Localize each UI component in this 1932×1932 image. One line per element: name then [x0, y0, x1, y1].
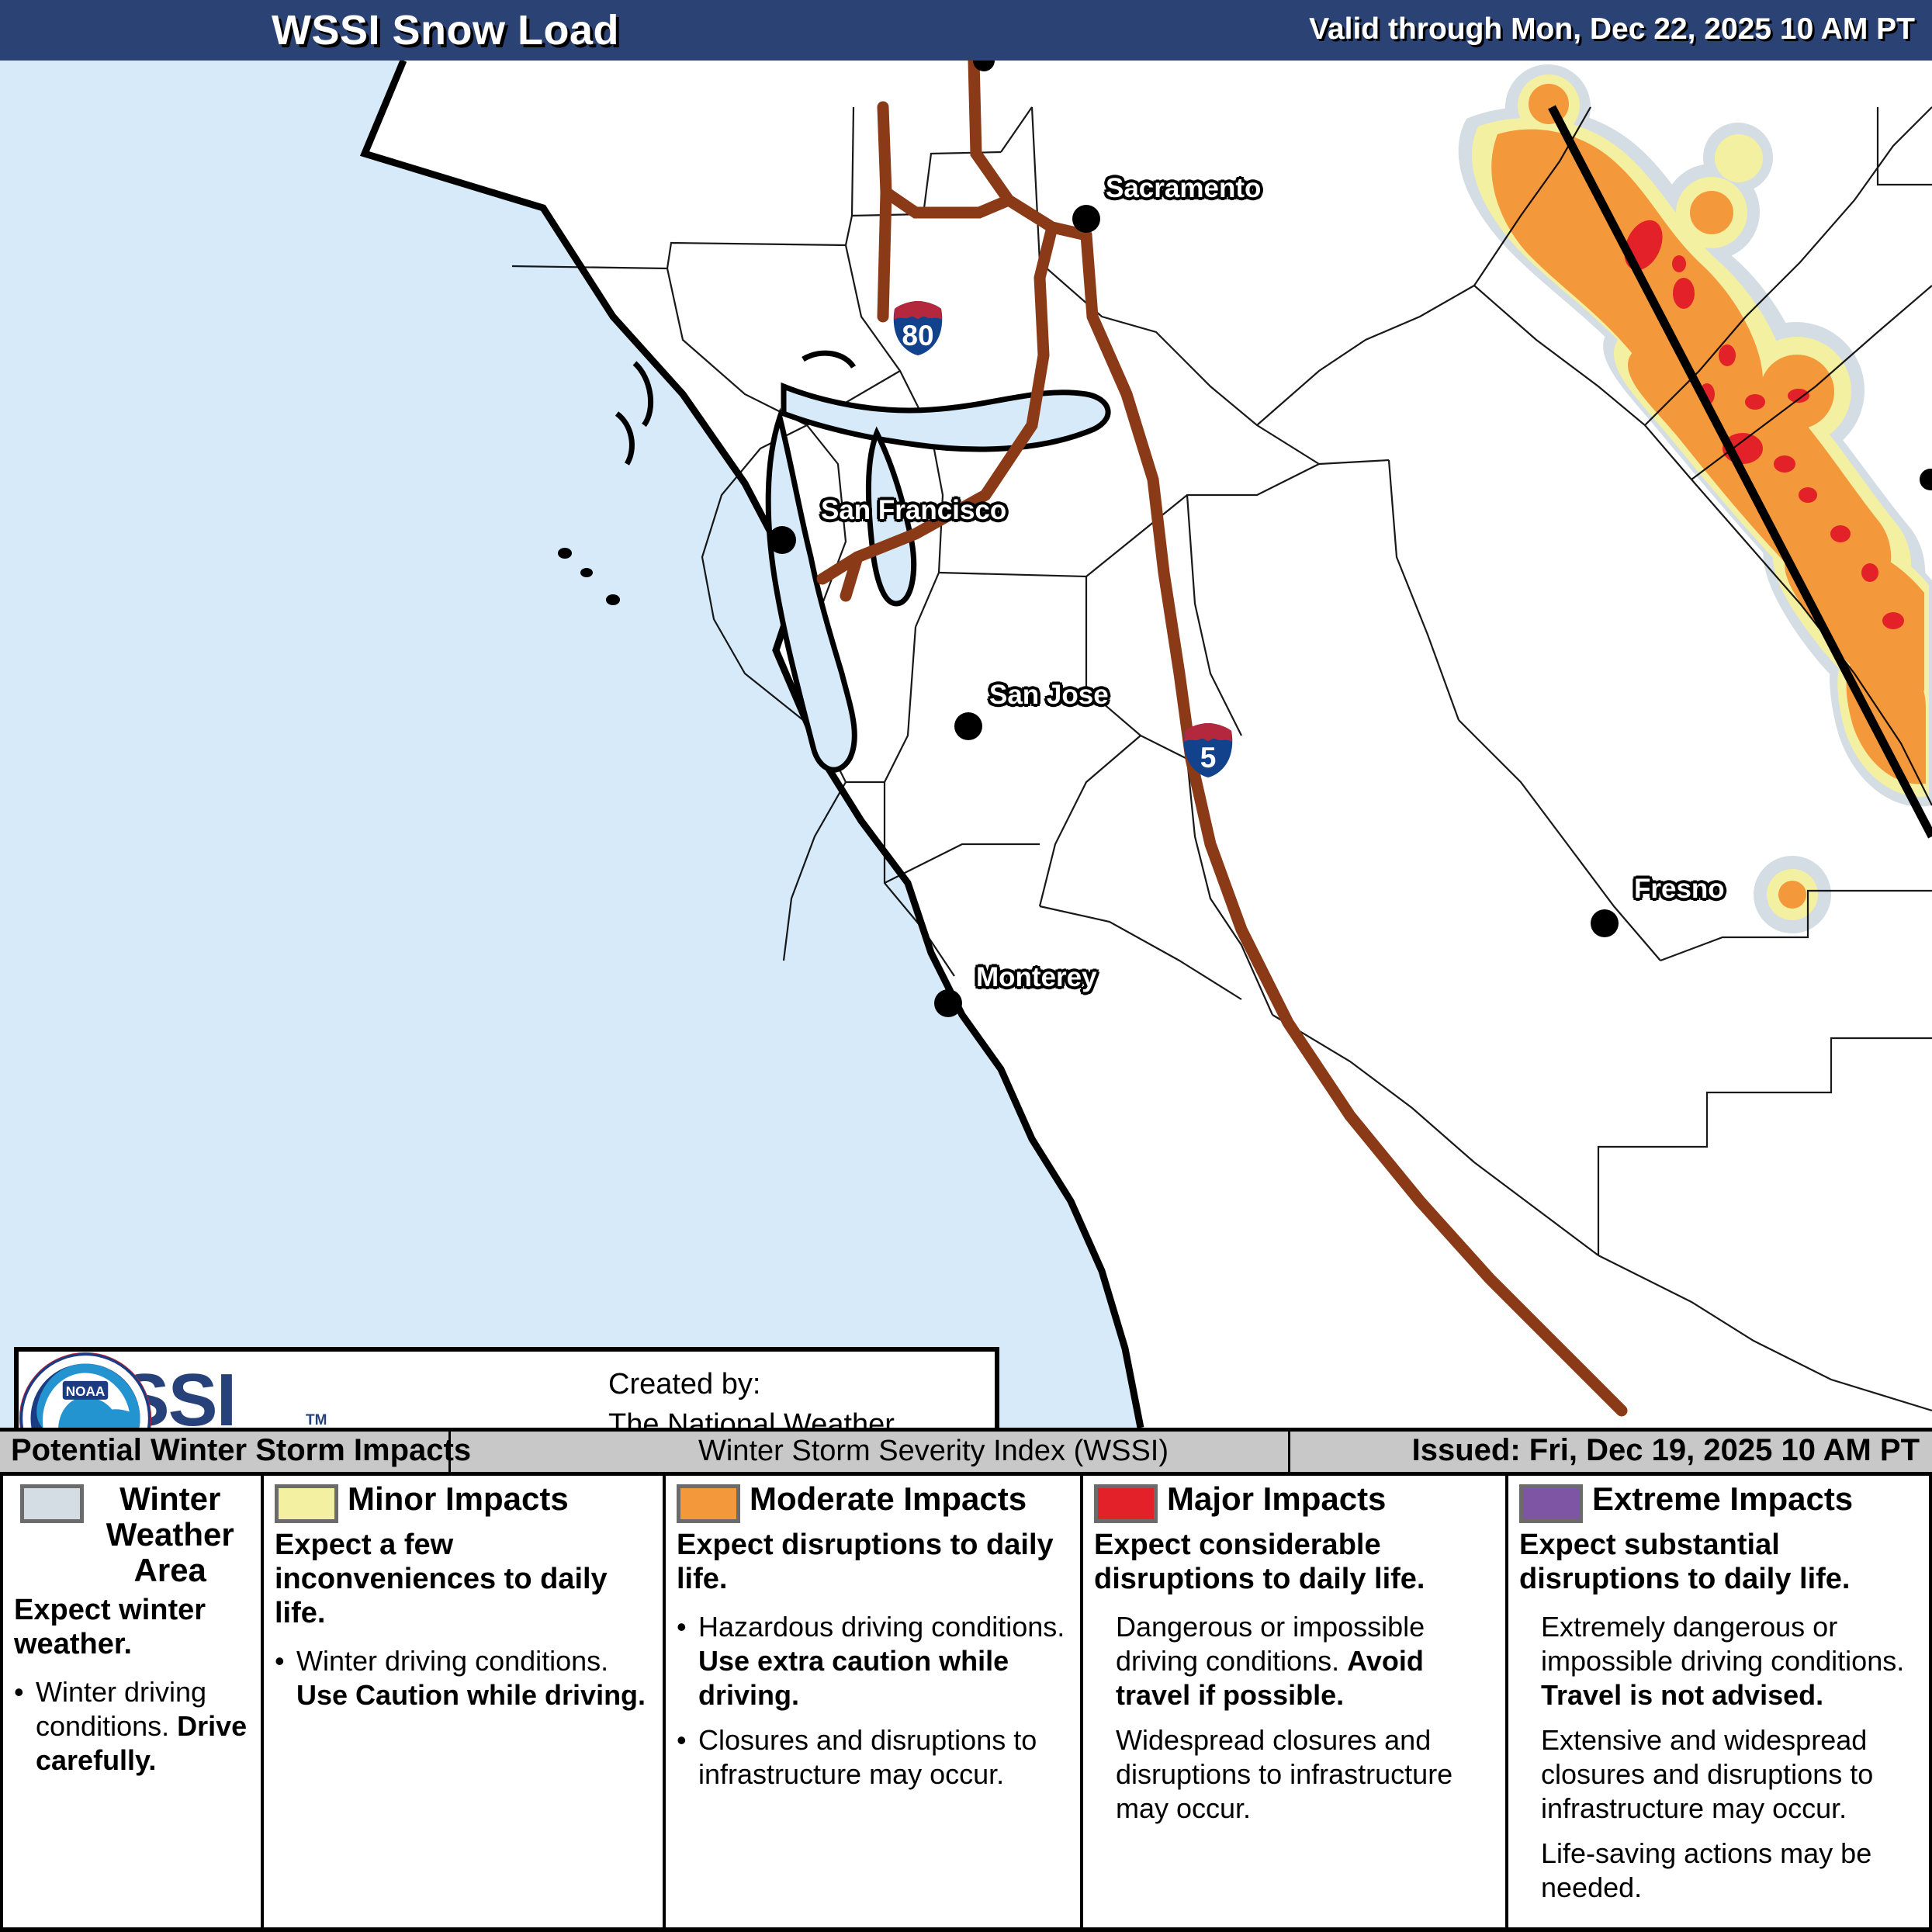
impacts-banner: Potential Winter Storm Impacts Winter St…: [0, 1428, 1932, 1476]
legend-title-major-impacts: Major Impacts: [1167, 1481, 1386, 1517]
page-header: WSSI Snow Load Valid through Mon, Dec 22…: [0, 0, 1932, 61]
legend-swatch-moderate-impacts: [677, 1484, 740, 1523]
legend-bullet: Winter driving conditions. Drive careful…: [14, 1675, 253, 1778]
legend-lead-minor-impacts: Expect a few inconveniences to daily lif…: [264, 1523, 663, 1630]
valid-through-text: Valid through Mon, Dec 22, 2025 10 AM PT: [1309, 12, 1915, 47]
interstate-5-number: 5: [1182, 742, 1234, 774]
city-label-monterey: Monterey: [976, 962, 1097, 993]
created-by-block: Created by: The National Weather Service…: [608, 1364, 995, 1428]
legend-bullet-plain: Extensive and widespread closures and di…: [1541, 1724, 1873, 1824]
legend-title-winter-weather-area: Winter Weather Area: [91, 1481, 250, 1588]
svg-text:NOAA: NOAA: [66, 1383, 106, 1399]
legend-column-minor-impacts[interactable]: Minor Impacts Expect a few inconvenience…: [264, 1472, 666, 1932]
city-label-san-francisco: San Francisco: [821, 495, 1006, 526]
legend-bullet-plain: Extremely dangerous or impossible drivin…: [1541, 1611, 1904, 1677]
legend-column-extreme-impacts[interactable]: Extreme Impacts Expect substantial disru…: [1508, 1472, 1932, 1932]
created-by-line-1: Created by:: [608, 1364, 995, 1404]
wssi-trademark: TM: [306, 1412, 327, 1428]
legend-title-extreme-impacts: Extreme Impacts: [1592, 1481, 1853, 1517]
legend-column-moderate-impacts[interactable]: Moderate Impacts Expect disruptions to d…: [666, 1472, 1083, 1932]
map-canvas[interactable]: Sacramento San Francisco San Jose Fresno…: [0, 61, 1932, 1428]
noaa-seal-icon: NOAA: [19, 1352, 152, 1428]
legend-bullet: Closures and disruptions to infrastructu…: [677, 1723, 1072, 1792]
legend-bullet: Extremely dangerous or impossible drivin…: [1519, 1610, 1921, 1712]
map-graphics: [0, 61, 1932, 1428]
legend-bullet-plain: Hazardous driving conditions.: [698, 1611, 1065, 1643]
legend-bullet: Winter driving conditions. Use Caution w…: [275, 1644, 655, 1712]
legend-title-moderate-impacts: Moderate Impacts: [750, 1481, 1027, 1517]
legend-bullet-plain: Widespread closures and disruptions to i…: [1116, 1724, 1452, 1824]
legend-bullet-plain: Life-saving actions may be needed.: [1541, 1837, 1871, 1903]
legend-swatch-minor-impacts: [275, 1484, 338, 1523]
interstate-5-shield: 5: [1182, 722, 1234, 779]
legend-lead-extreme-impacts: Expect substantial disruptions to daily …: [1508, 1523, 1929, 1596]
legend-lead-winter-weather-area: Expect winter weather.: [3, 1588, 261, 1661]
legend-swatch-winter-weather-area: [20, 1484, 84, 1523]
city-label-sacramento: Sacramento: [1106, 173, 1261, 204]
legend-title-minor-impacts: Minor Impacts: [348, 1481, 569, 1517]
legend-bullet-bold: Use extra caution while driving.: [698, 1645, 1009, 1711]
legend-bullet-plain: Closures and disruptions to infrastructu…: [698, 1724, 1037, 1790]
legend-swatch-extreme-impacts: [1519, 1484, 1583, 1523]
interstate-80-number: 80: [892, 320, 943, 352]
legend-bullet-bold: Use Caution while driving.: [296, 1679, 646, 1711]
legend-bullet: Life-saving actions may be needed.: [1519, 1837, 1921, 1905]
city-label-fresno: Fresno: [1634, 874, 1725, 905]
banner-center-text: Winter Storm Severity Index (WSSI): [698, 1435, 1169, 1468]
legend-column-major-impacts[interactable]: Major Impacts Expect considerable disrup…: [1083, 1472, 1508, 1932]
legend-swatch-major-impacts: [1094, 1484, 1158, 1523]
created-by-line-2: The National Weather Service: [608, 1404, 995, 1428]
legend-bullet-bold: Travel is not advised.: [1541, 1679, 1823, 1711]
legend-lead-moderate-impacts: Expect disruptions to daily life.: [666, 1523, 1080, 1596]
impact-legend: Winter Weather Area Expect winter weathe…: [0, 1472, 1932, 1932]
legend-bullet-plain: Winter driving conditions.: [296, 1645, 608, 1677]
bottom-border: [0, 1927, 1932, 1932]
legend-bullet: Hazardous driving conditions. Use extra …: [677, 1610, 1072, 1712]
banner-right-text: Issued: Fri, Dec 19, 2025 10 AM PT: [1412, 1433, 1920, 1468]
legend-lead-major-impacts: Expect considerable disruptions to daily…: [1083, 1523, 1505, 1596]
banner-left-text: Potential Winter Storm Impacts: [11, 1433, 471, 1468]
city-label-san-jose: San Jose: [989, 680, 1109, 711]
legend-bullet: Dangerous or impossible driving conditio…: [1094, 1610, 1497, 1712]
interstate-80-shield: 80: [892, 299, 943, 357]
legend-bullet: Extensive and widespread closures and di…: [1519, 1723, 1921, 1826]
wssi-logo-box: WSSI TM The Winter Storm Severity Index …: [14, 1347, 999, 1428]
legend-bullet: Widespread closures and disruptions to i…: [1094, 1723, 1497, 1826]
legend-column-winter-weather-area[interactable]: Winter Weather Area Expect winter weathe…: [0, 1472, 264, 1932]
page-title: WSSI Snow Load: [272, 6, 619, 54]
